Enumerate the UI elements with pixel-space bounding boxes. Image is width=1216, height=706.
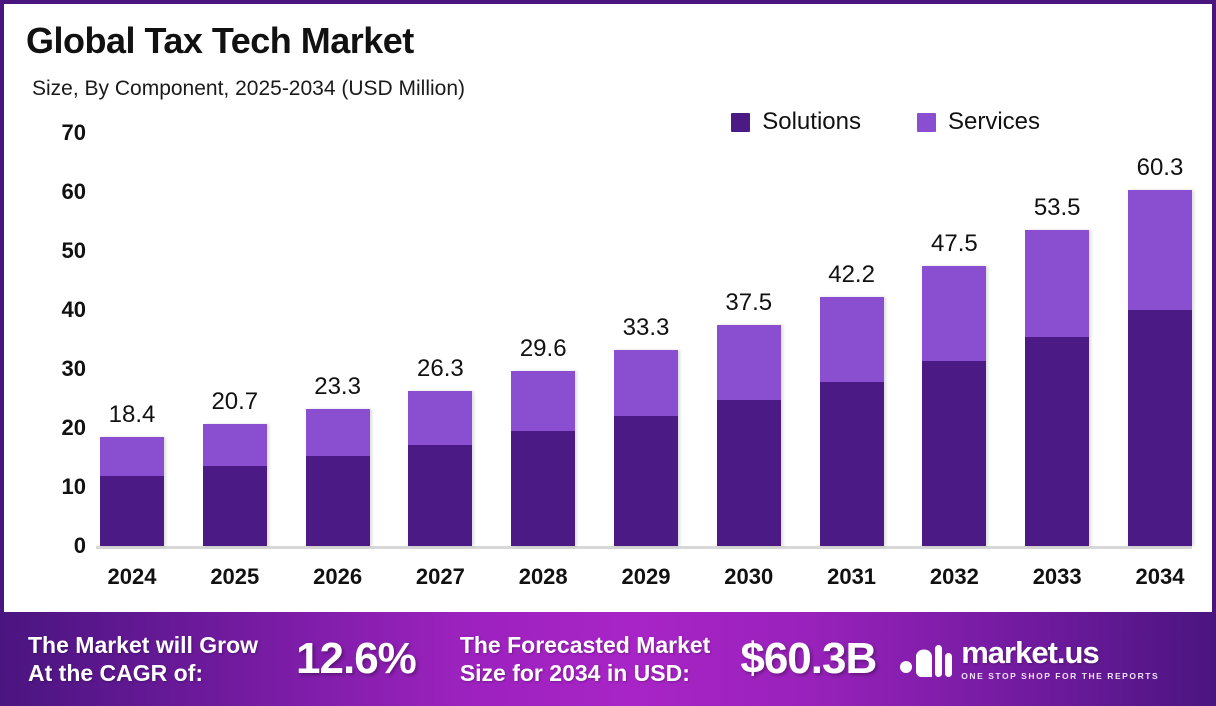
cagr-value: 12.6% bbox=[296, 634, 416, 684]
bar-column[interactable]: 20.72025 bbox=[203, 133, 267, 546]
legend-swatch-solutions bbox=[731, 113, 750, 132]
market-us-logo[interactable]: market.us ONE STOP SHOP FOR THE REPORTS bbox=[898, 637, 1159, 681]
logo-wordmark: market.us bbox=[961, 637, 1159, 668]
page-subtitle: Size, By Component, 2025-2034 (USD Milli… bbox=[32, 77, 465, 101]
x-axis-label: 2032 bbox=[930, 564, 979, 590]
stacked-bar[interactable] bbox=[614, 350, 678, 546]
logo-tagline: ONE STOP SHOP FOR THE REPORTS bbox=[961, 672, 1159, 681]
x-axis-label: 2028 bbox=[519, 564, 568, 590]
bar-segment-solutions[interactable] bbox=[408, 445, 472, 546]
legend-item-services: Services bbox=[917, 108, 1040, 136]
bar-column[interactable]: 53.52033 bbox=[1025, 133, 1089, 546]
bar-column[interactable]: 23.32026 bbox=[306, 133, 370, 546]
legend-item-solutions: Solutions bbox=[731, 108, 861, 136]
bar-segment-services[interactable] bbox=[100, 437, 164, 476]
bar-segment-services[interactable] bbox=[820, 297, 884, 382]
x-axis-label: 2030 bbox=[724, 564, 773, 590]
bar-column[interactable]: 60.32034 bbox=[1128, 133, 1192, 546]
legend-label-services: Services bbox=[948, 108, 1040, 136]
logo-bars-icon bbox=[898, 639, 952, 679]
bar-column[interactable]: 33.32029 bbox=[614, 133, 678, 546]
bar-total-label: 37.5 bbox=[725, 289, 772, 317]
bar-segment-solutions[interactable] bbox=[922, 361, 986, 546]
bar-total-label: 42.2 bbox=[828, 261, 875, 289]
y-axis-tick: 10 bbox=[62, 474, 86, 500]
chart-legend: Solutions Services bbox=[731, 108, 1040, 136]
stacked-bar[interactable] bbox=[100, 437, 164, 546]
stacked-bar[interactable] bbox=[1025, 230, 1089, 546]
bar-segment-services[interactable] bbox=[306, 409, 370, 456]
legend-swatch-services bbox=[917, 113, 936, 132]
bar-column[interactable]: 26.32027 bbox=[408, 133, 472, 546]
stacked-bar[interactable] bbox=[820, 297, 884, 546]
bar-segment-solutions[interactable] bbox=[614, 416, 678, 546]
bar-segment-solutions[interactable] bbox=[100, 476, 164, 546]
bar-column[interactable]: 29.62028 bbox=[511, 133, 575, 546]
cagr-caption-line1: The Market will Grow bbox=[28, 631, 258, 659]
stacked-bar[interactable] bbox=[306, 409, 370, 546]
bar-segment-services[interactable] bbox=[511, 371, 575, 431]
y-axis-tick: 50 bbox=[62, 238, 86, 264]
bar-segment-solutions[interactable] bbox=[511, 431, 575, 546]
bar-segment-services[interactable] bbox=[614, 350, 678, 417]
plot-area: 010203040506070 18.4202420.7202523.32026… bbox=[100, 133, 1192, 546]
x-axis-label: 2034 bbox=[1135, 564, 1184, 590]
stacked-bar[interactable] bbox=[717, 325, 781, 546]
x-axis-label: 2027 bbox=[416, 564, 465, 590]
x-axis-label: 2025 bbox=[210, 564, 259, 590]
bar-group: 18.4202420.7202523.3202626.3202729.62028… bbox=[100, 133, 1192, 546]
bar-column[interactable]: 37.52030 bbox=[717, 133, 781, 546]
y-axis-tick: 60 bbox=[62, 179, 86, 205]
bar-segment-solutions[interactable] bbox=[1025, 337, 1089, 546]
bar-segment-services[interactable] bbox=[203, 424, 267, 466]
forecast-caption: The Forecasted Market Size for 2034 in U… bbox=[460, 631, 711, 687]
stacked-bar[interactable] bbox=[203, 424, 267, 546]
y-axis-tick: 70 bbox=[62, 120, 86, 146]
x-axis-label: 2031 bbox=[827, 564, 876, 590]
bar-total-label: 53.5 bbox=[1034, 194, 1081, 222]
forecast-caption-line1: The Forecasted Market bbox=[460, 631, 711, 659]
bar-segment-solutions[interactable] bbox=[717, 400, 781, 546]
stacked-bar[interactable] bbox=[408, 391, 472, 546]
legend-label-solutions: Solutions bbox=[762, 108, 861, 136]
footer-banner: The Market will Grow At the CAGR of: 12.… bbox=[4, 612, 1212, 706]
bar-segment-services[interactable] bbox=[408, 391, 472, 445]
bar-segment-services[interactable] bbox=[717, 325, 781, 400]
forecast-caption-line2: Size for 2034 in USD: bbox=[460, 659, 711, 687]
bar-total-label: 23.3 bbox=[314, 373, 361, 401]
bar-column[interactable]: 18.42024 bbox=[100, 133, 164, 546]
bar-total-label: 26.3 bbox=[417, 355, 464, 383]
bar-total-label: 33.3 bbox=[623, 314, 670, 342]
bar-segment-services[interactable] bbox=[1025, 230, 1089, 337]
x-axis-label: 2029 bbox=[622, 564, 671, 590]
bar-segment-services[interactable] bbox=[1128, 190, 1192, 310]
x-axis-label: 2033 bbox=[1033, 564, 1082, 590]
y-axis-tick: 30 bbox=[62, 356, 86, 382]
y-axis-tick: 0 bbox=[74, 533, 86, 559]
cagr-caption-line2: At the CAGR of: bbox=[28, 659, 258, 687]
bar-total-label: 47.5 bbox=[931, 230, 978, 258]
stacked-bar[interactable] bbox=[922, 266, 986, 546]
bar-segment-solutions[interactable] bbox=[820, 382, 884, 546]
bar-column[interactable]: 42.22031 bbox=[820, 133, 884, 546]
bar-segment-solutions[interactable] bbox=[203, 466, 267, 546]
bar-total-label: 18.4 bbox=[109, 401, 156, 429]
bar-total-label: 60.3 bbox=[1137, 154, 1184, 182]
bar-total-label: 20.7 bbox=[211, 388, 258, 416]
x-axis-label: 2026 bbox=[313, 564, 362, 590]
x-axis-baseline bbox=[96, 546, 1192, 549]
chart-infographic: Global Tax Tech Market Size, By Componen… bbox=[0, 0, 1216, 706]
page-title: Global Tax Tech Market bbox=[26, 20, 414, 62]
stacked-bar[interactable] bbox=[511, 371, 575, 546]
y-axis-tick: 20 bbox=[62, 415, 86, 441]
bar-segment-services[interactable] bbox=[922, 266, 986, 361]
cagr-caption: The Market will Grow At the CAGR of: bbox=[28, 631, 258, 687]
y-axis-tick: 40 bbox=[62, 297, 86, 323]
stacked-bar[interactable] bbox=[1128, 190, 1192, 546]
x-axis-label: 2024 bbox=[108, 564, 157, 590]
bar-segment-solutions[interactable] bbox=[306, 456, 370, 546]
bar-column[interactable]: 47.52032 bbox=[922, 133, 986, 546]
bar-total-label: 29.6 bbox=[520, 335, 567, 363]
forecast-value: $60.3B bbox=[740, 634, 876, 684]
bar-segment-solutions[interactable] bbox=[1128, 310, 1192, 546]
